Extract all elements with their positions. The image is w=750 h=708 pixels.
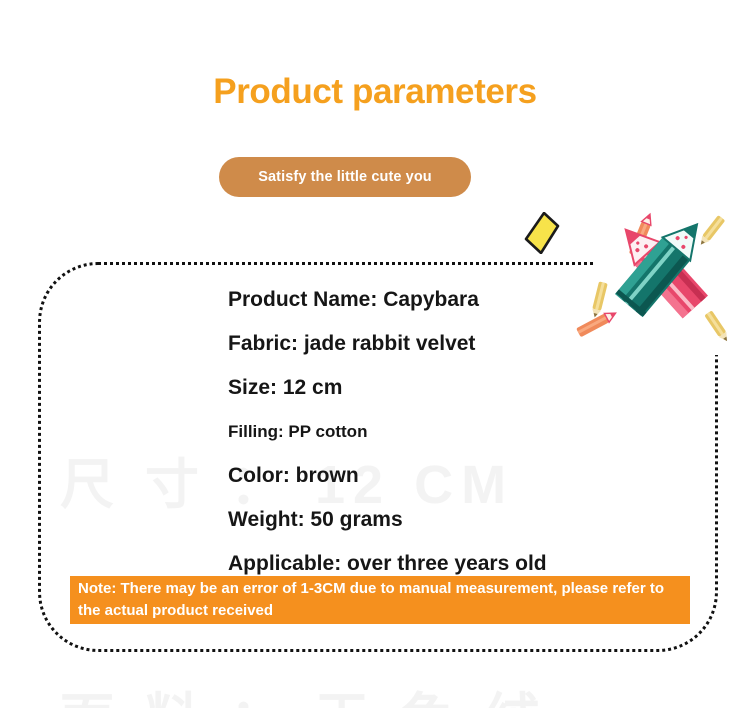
spec-item-weight: Weight: 50 grams xyxy=(228,498,658,542)
small-yellow-pencil-bottom-right xyxy=(704,310,730,343)
tagline-pill-button[interactable]: Satisfy the little cute you xyxy=(219,157,471,197)
product-parameters-page: Product parameters Satisfy the little cu… xyxy=(0,0,750,708)
measurement-note-banner: Note: There may be an error of 1-3CM due… xyxy=(70,576,690,624)
four-point-star-icon xyxy=(524,212,560,254)
pencils-illustration xyxy=(566,212,750,347)
watermark-row: 面 料 ： 玉 兔 绒 xyxy=(60,680,680,708)
spec-item-size: Size: 12 cm xyxy=(228,366,658,410)
page-title: Product parameters xyxy=(0,72,750,112)
small-yellow-pencil-top-right xyxy=(697,215,725,247)
spec-item-filling: Filling: PP cotton xyxy=(228,410,658,454)
spec-item-color: Color: brown xyxy=(228,454,658,498)
